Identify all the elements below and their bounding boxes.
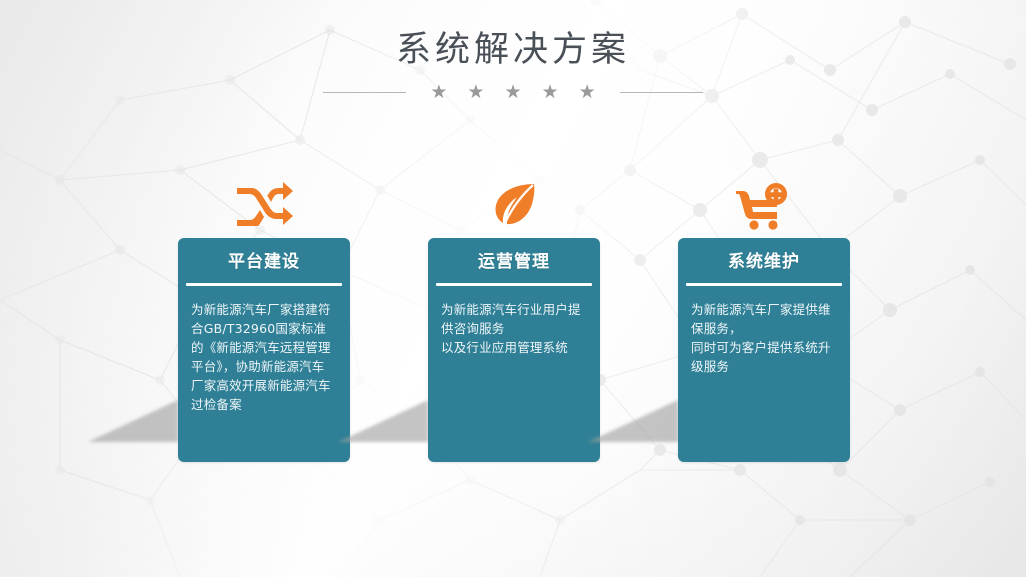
card-icon-platform [178,182,350,232]
card-shadow [88,400,178,442]
star-icon: ★ [430,83,447,102]
slide-canvas: 系统解决方案 ★ ★ ★ ★ ★ 平台建设 为新能源汽车厂家搭建符合GB/T32… [0,0,1026,577]
title-block: 系统解决方案 ★ ★ ★ ★ ★ [0,26,1026,102]
star-icon: ★ [467,83,484,102]
card-body: 为新能源汽车厂家搭建符合GB/T32960国家标准的《新能源汽车远程管理平台》，… [178,286,350,414]
leaf-icon [490,182,538,226]
card-title: 系统维护 [678,242,850,282]
star-divider: ★ ★ ★ ★ ★ [0,83,1026,102]
card-icon-maintenance [678,182,850,232]
card-title: 平台建设 [178,242,350,282]
card-body: 为新能源汽车厂家提供维保服务， 同时可为客户提供系统升级服务 [678,286,850,376]
divider-rule-right [620,92,703,93]
card-shadow [588,400,678,442]
card-body: 为新能源汽车行业用户提供咨询服务 以及行业应用管理系统 [428,286,600,357]
card-icon-operations [428,182,600,232]
card-operations[interactable]: 运营管理 为新能源汽车行业用户提供咨询服务 以及行业应用管理系统 [428,238,600,462]
star-icon: ★ [504,83,521,102]
card-maintenance[interactable]: 系统维护 为新能源汽车厂家提供维保服务， 同时可为客户提供系统升级服务 [678,238,850,462]
card-platform[interactable]: 平台建设 为新能源汽车厂家搭建符合GB/T32960国家标准的《新能源汽车远程管… [178,238,350,462]
cart-plus-icon [735,182,793,230]
divider-rule-left [323,92,406,93]
card-shadow [338,400,428,442]
star-icon: ★ [579,83,596,102]
star-icon: ★ [542,83,559,102]
page-title: 系统解决方案 [0,26,1026,74]
shuffle-arrows-icon [235,182,293,226]
card-title: 运营管理 [428,242,600,282]
